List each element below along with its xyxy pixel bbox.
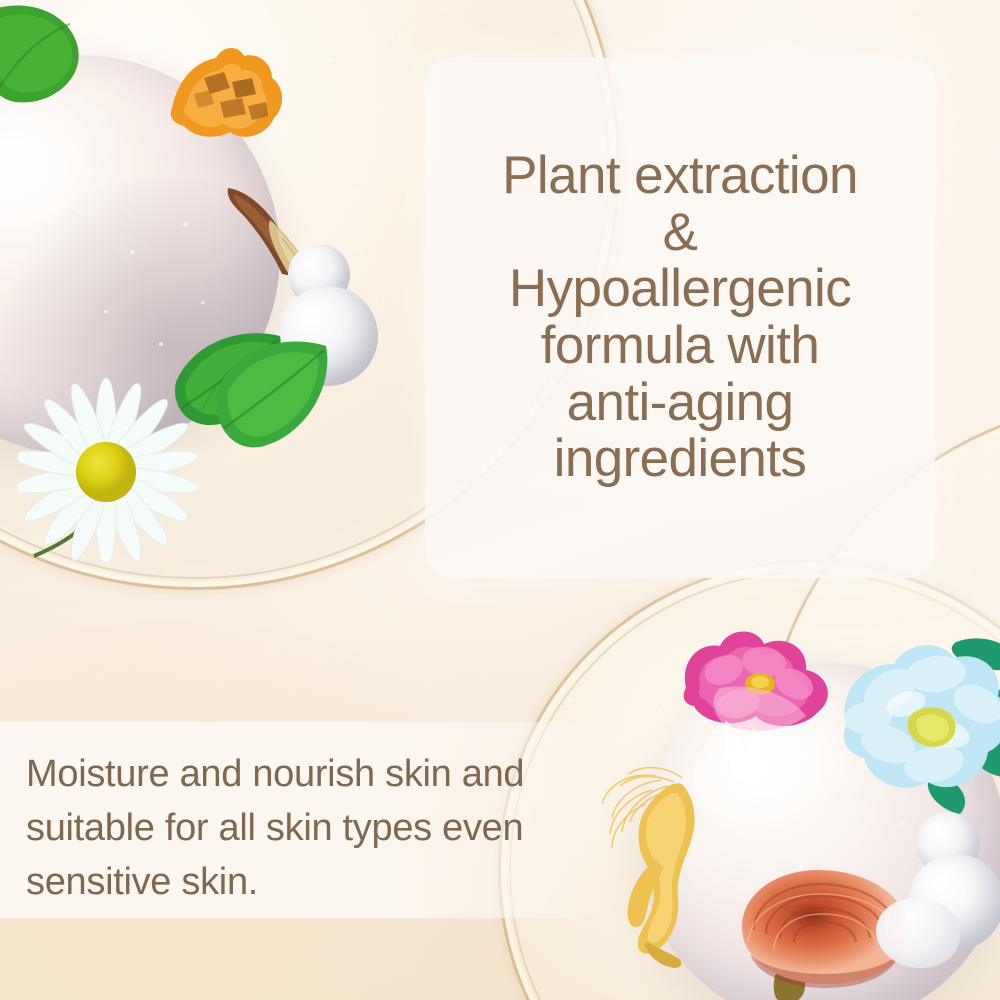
gel-sphere-bottom-right-highlight xyxy=(672,671,888,859)
product-feature-banner: Plant extraction & Hypoallergenic formul… xyxy=(0,0,1000,1000)
gel-sphere-top-left xyxy=(0,55,280,455)
pink-peony-flower xyxy=(668,618,858,748)
gel-sphere-bottom-right-sparkle xyxy=(720,740,960,960)
white-daisy-flower xyxy=(18,372,198,562)
water-droplet-small-lower xyxy=(916,812,980,876)
water-droplet-small-upper xyxy=(288,244,350,306)
sphere-sparkle-texture xyxy=(40,160,260,390)
gel-sphere-bottom-right xyxy=(640,662,1000,1000)
water-droplet-large-upper xyxy=(278,286,378,386)
pink-petal-wisp xyxy=(690,680,830,800)
dish-gel-texture-top-left xyxy=(0,0,460,440)
blue-peony-flower xyxy=(828,630,1000,820)
green-mint-leaf-right xyxy=(212,336,342,456)
reishi-mushroom xyxy=(726,858,926,1000)
dried-turmeric-root xyxy=(160,36,300,156)
headline-text: Plant extraction & Hypoallergenic formul… xyxy=(488,148,872,488)
green-mint-leaf-left xyxy=(0,0,88,114)
gel-sphere-top-left-highlight xyxy=(0,68,148,272)
water-droplet-blob-lower xyxy=(876,898,960,968)
gel-sphere-top-left-rim-shadow xyxy=(0,55,280,455)
cinnamon-bark xyxy=(218,178,328,288)
water-droplet-large-lower xyxy=(908,854,1000,950)
headline-card: Plant extraction & Hypoallergenic formul… xyxy=(425,58,935,578)
green-mint-leaf-center xyxy=(168,322,298,432)
licorice-stick xyxy=(258,212,378,352)
subtext: Moisture and nourish skin and suitable f… xyxy=(26,748,606,910)
